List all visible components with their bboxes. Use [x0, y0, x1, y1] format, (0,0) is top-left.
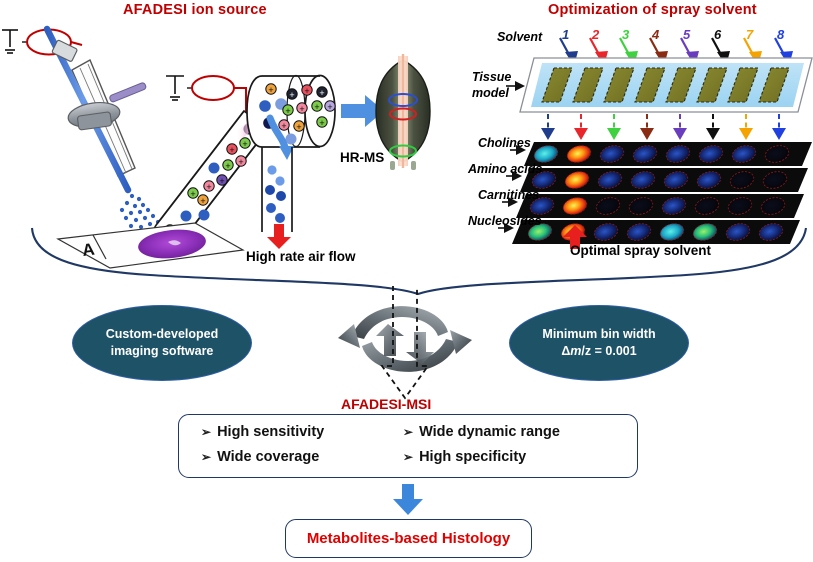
- feature-wide-coverage: Wide coverage: [217, 449, 319, 465]
- svg-text:+: +: [229, 145, 234, 155]
- features-box: ➢ High sensitivity ➢ Wide dynamic range …: [178, 414, 638, 478]
- msi-row-carnitines: [516, 194, 804, 218]
- svg-text:+: +: [285, 106, 290, 116]
- msi-label-cholines: Cholines: [478, 136, 531, 150]
- svg-text:+: +: [206, 182, 211, 192]
- bullet-icon-1: ➢: [201, 425, 211, 439]
- svg-text:+: +: [327, 102, 332, 112]
- kv2-badge: [192, 76, 234, 100]
- tissue-model-plate: [520, 58, 812, 112]
- ground-symbol-1: [2, 30, 18, 53]
- ground-symbol-2: [166, 76, 184, 100]
- feature-wide-dynamic-range: Wide dynamic range: [419, 424, 560, 440]
- mz-italic-m: m: [570, 344, 581, 358]
- result-box: Metabolites-based Histology: [285, 519, 532, 558]
- svg-text:+: +: [319, 88, 324, 98]
- msi-label-amino-acids: Amino acids: [468, 162, 542, 176]
- svg-text:+: +: [299, 104, 304, 114]
- binwidth-ellipse-line2: Δm/z = 0.001: [542, 343, 655, 360]
- svg-text:+: +: [190, 189, 195, 199]
- tissue-model-label-line2: model: [472, 86, 509, 100]
- msi-row-amino-acids: [520, 168, 808, 192]
- msi-row-cholines: [524, 142, 812, 166]
- binwidth-ellipse: Minimum bin width Δm/z = 0.001: [509, 305, 689, 381]
- tissue-model-label-line1: Tissue: [472, 70, 511, 84]
- bullet-icon-2: ➢: [403, 425, 413, 439]
- cyclic-process-icon: [330, 286, 480, 406]
- result-blue-arrow: [391, 484, 425, 516]
- svg-text:+: +: [242, 139, 247, 149]
- svg-text:+: +: [314, 102, 319, 112]
- exhaust-droplets: [265, 165, 286, 223]
- afadesi-msi-title: AFADESI-MSI: [341, 396, 431, 412]
- svg-text:+: +: [304, 86, 309, 96]
- feature-high-specificity: High specificity: [419, 449, 526, 465]
- svg-text:+: +: [296, 122, 301, 132]
- right-panel-title: Optimization of spray solvent: [548, 2, 757, 18]
- svg-text:+: +: [268, 85, 273, 95]
- mz-value: /z = 0.001: [581, 344, 636, 358]
- software-ellipse: Custom-developed imaging software: [72, 305, 252, 381]
- software-ellipse-line2: imaging software: [106, 343, 219, 360]
- svg-text:+: +: [200, 196, 205, 206]
- binwidth-ellipse-line1: Minimum bin width: [542, 326, 655, 343]
- hr-ms-label: HR-MS: [340, 150, 384, 165]
- msi-label-carnitines: Carnitines: [478, 188, 539, 202]
- msi-label-nucleosides: Nucleosides: [468, 214, 542, 228]
- bullet-icon-3: ➢: [201, 450, 211, 464]
- svg-text:+: +: [225, 161, 230, 171]
- svg-text:+: +: [238, 157, 243, 167]
- svg-text:+: +: [289, 90, 294, 100]
- result-box-label: Metabolites-based Histology: [307, 530, 510, 547]
- left-panel-title: AFADESI ion source: [123, 2, 267, 18]
- bullet-icon-4: ➢: [403, 450, 413, 464]
- delta-symbol: Δ: [561, 344, 570, 358]
- svg-text:+: +: [319, 118, 324, 128]
- svg-text:+: +: [281, 121, 286, 131]
- svg-text:+: +: [219, 176, 224, 186]
- feature-high-sensitivity: High sensitivity: [217, 424, 324, 440]
- software-ellipse-line1: Custom-developed: [106, 326, 219, 343]
